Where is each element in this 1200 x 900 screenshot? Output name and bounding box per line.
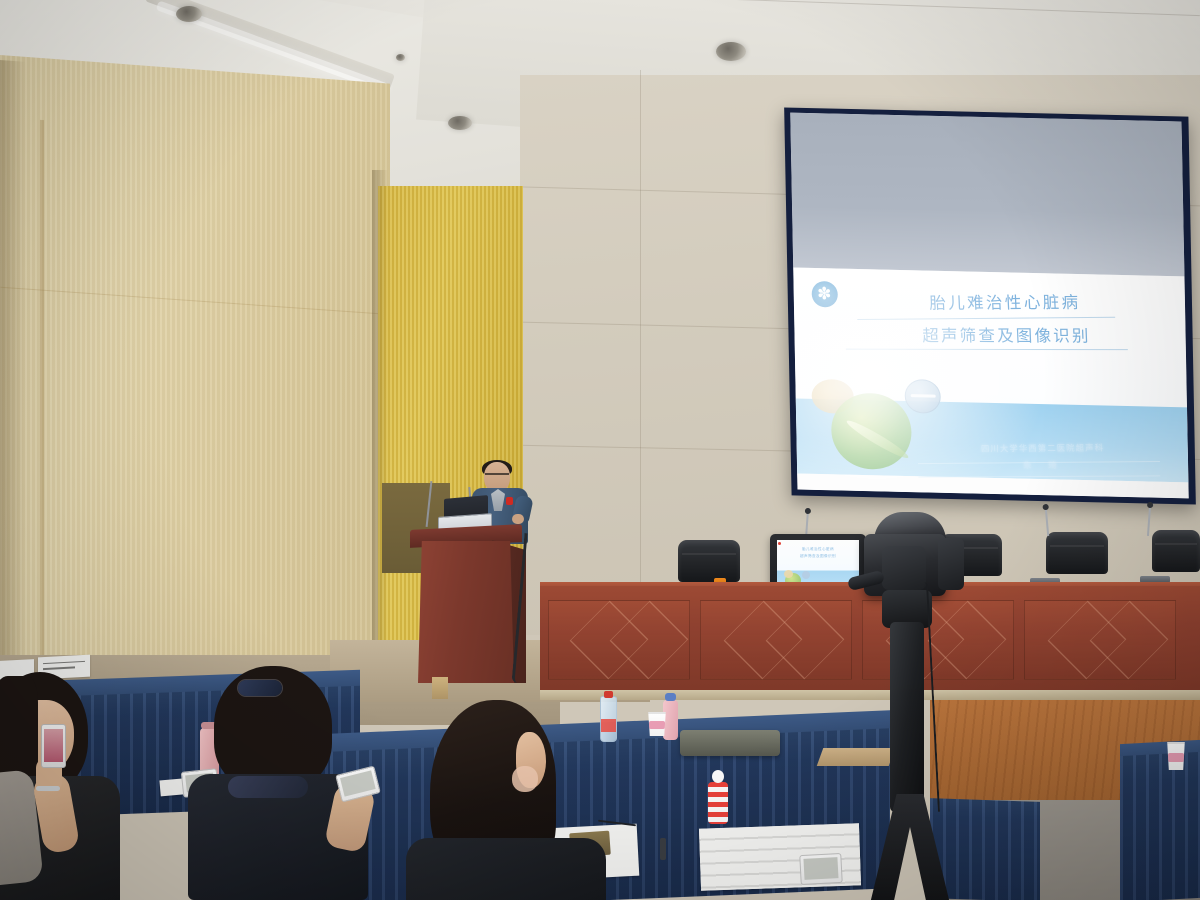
paper-cup [647,712,667,736]
slide-affiliation: 四川大学华西第二医院超声科 [981,442,1105,453]
downlight-icon [176,6,202,22]
attendee-neck [512,766,538,792]
logo-glyph: ✽ [817,285,832,302]
attendee-collar [228,776,308,798]
tripod-centre-column [890,622,924,812]
camera-cable [924,582,940,812]
slide-title-line2: 超声筛查及图像识别 [849,322,1163,347]
bottle-cap [665,693,676,701]
downlight-icon [396,54,405,61]
monitor-record-dot [778,542,781,545]
monitor-decoration [802,571,810,579]
attendee-taking-notes [412,700,602,900]
bottle-label [601,719,616,732]
speaker-red-badge [506,497,513,505]
speaker-podium [414,527,518,683]
slide-presenter-name: 朱 琦 [914,458,1173,472]
name-card-text [43,667,75,670]
water-bottle [600,696,617,742]
video-camera-tripod [846,512,1026,900]
head-table-diamond-motif [766,601,845,680]
downlight-icon [448,116,472,130]
laptop-bag [680,730,780,756]
screen-dead-band [790,113,1184,276]
bottle-cap [604,691,613,698]
conference-hall-photo: ✽ 胎儿难治性心脏病 超声筛查及图像识别 四川大学华西第二医院超声科 朱 琦 [0,0,1200,900]
audience-table [1120,752,1200,900]
hibiscus-flower-emblem-icon: ✽ [811,281,838,308]
paper-cup [1166,742,1186,770]
head-table-chair [678,540,740,582]
monitor-line2: 超声筛查及图像识别 [800,554,836,558]
phone-screen [44,729,63,762]
monitor-decoration [784,570,793,578]
smartphone [799,853,843,885]
head-table-chair [1046,532,1108,574]
slide-affiliation-block: 四川大学华西第二医院超声科 朱 琦 [914,441,1173,472]
podium-front-face [418,541,514,683]
attendee-photographing [0,672,136,900]
name-card-text [43,661,85,665]
wall-seam-vertical [40,120,44,680]
presentation-slide: ✽ 胎儿难治性心脏病 超声筛查及图像识别 四川大学华西第二医院超声科 朱 琦 [793,267,1189,498]
screen-surface: ✽ 胎儿难治性心脏病 超声筛查及图像识别 四川大学华西第二医院超声科 朱 琦 [790,113,1188,499]
slide-fetus-streak [845,417,911,462]
wall-left-shading [0,60,26,682]
wall-corner-shadow [372,170,388,670]
wall-left-wood-panel [0,55,390,724]
floor-block [432,677,448,699]
hair-clip [238,680,282,696]
monitor-slide-text: 胎儿难治性心脏病 超声筛查及图像识别 [787,546,849,560]
cup-pattern [649,721,664,728]
phone-screen [803,857,838,880]
speaker-hand [512,514,524,524]
slide-ultrasound-bubble [905,379,942,414]
downlight-icon [716,42,746,61]
head-table-chair [1152,530,1200,572]
pen [660,838,666,860]
phone-screen [340,770,376,796]
smartphone [41,724,66,768]
wristwatch [36,786,60,791]
camera-grip [938,538,964,590]
slide-title-underline [846,349,1128,350]
bottle-cap [712,770,724,783]
camera-lens-icon [882,546,926,590]
monitor-line1: 胎儿难治性心脏病 [802,547,834,551]
attendee-top [406,838,606,900]
striped-bottle [708,782,728,824]
wall-seam-vertical [640,70,641,630]
head-table-diamond-motif [1090,601,1169,680]
attendee-hair-clip [188,666,368,900]
cup-pattern [1168,753,1183,762]
slide-title-line1: 胎儿难治性心脏病 [929,293,1081,313]
table-skirt [1120,752,1200,900]
projection-screen: ✽ 胎儿难治性心脏病 超声筛查及图像识别 四川大学华西第二医院超声科 朱 琦 [784,107,1196,504]
glasses-icon [485,473,509,480]
